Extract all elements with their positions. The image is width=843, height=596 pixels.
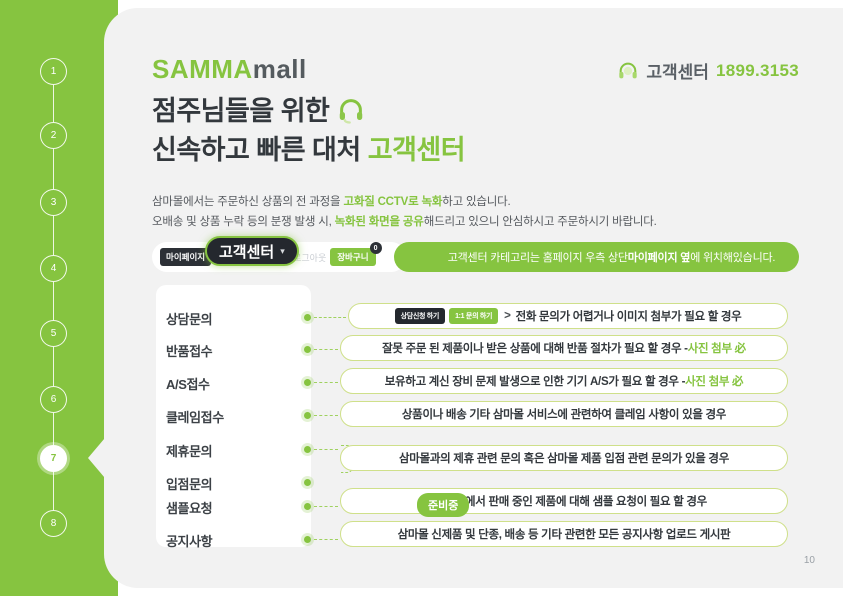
banner-text-a: 고객센터 카테고리는 홈페이지 우측 상단 [448,249,628,265]
hotline-label: 고객센터 [646,58,709,83]
dashed-connector [314,415,338,416]
title-line2-plain: 신속하고 빠른 대처 [152,135,361,165]
brand-logo: SAMMAmall [152,54,307,85]
bubble-text: 삼마몰 신제품 및 단종, 배송 등 기타 관련한 모든 공지사항 업로드 게시… [398,526,731,542]
connector-dot [304,379,311,386]
step-indicator-8[interactable]: 8 [40,510,67,537]
dashed-connector [314,449,338,450]
title-line2-accent: 고객센터 [368,135,465,165]
category-label: 클레임접수 [166,407,298,426]
connector-dot [304,446,311,453]
desc-1-highlight: 고화질 CCTV로 녹화 [343,196,442,208]
category-label: 입점문의 [166,474,298,493]
content-panel: SAMMAmall 고객센터 1899.3153 점주님들을 위한 [104,8,843,588]
dashed-connector [314,506,338,507]
location-banner: 고객센터 카테고리는 홈페이지 우측 상단 마이페이지 옆에 위치해있습니다. [394,242,799,272]
dashed-connector [314,349,338,350]
step-indicator-3[interactable]: 3 [40,189,67,216]
one-to-one-inquiry-pill[interactable]: 1:1 문의 하기 [449,308,498,324]
bubble-text: 삼마몰과의 제휴 관련 문의 혹은 삼마몰 제품 입점 관련 문의가 있을 경우 [399,450,729,466]
hotline: 고객센터 1899.3153 [617,58,799,83]
active-step-pointer [88,432,110,484]
bubble-text: 전화 문의가 어렵거나 이미지 첨부가 필요 할 경우 [516,308,742,324]
connector-dot [304,346,311,353]
category-label: A/S접수 [166,374,298,393]
chevron-down-icon: ▾ [280,246,285,257]
category-description-bubble[interactable]: 삼마몰 내에서 판매 중인 제품에 대해 샘플 요청이 필요 할 경우 [340,488,788,514]
desc-1a: 삼마몰에서는 주문하신 상품의 전 과정을 [152,196,343,208]
connector-dot [304,503,311,510]
tab-customer-center[interactable]: 고객센터 ▾ [205,236,299,266]
connector-dot [304,314,311,321]
banner-text-bold: 마이페이지 옆 [628,249,690,265]
consult-request-pill[interactable]: 상담신청 하기 [395,308,446,324]
description-line-1: 삼마몰에서는 주문하신 상품의 전 과정을 고화질 CCTV로 녹화하고 있습니… [152,192,657,212]
category-label: 공지사항 [166,531,298,550]
tab-customer-center-label: 고객센터 [219,241,274,262]
slide-page: 12345678 SAMMAmall 고객센터 1899.3153 점주님들을 … [0,0,843,596]
category-description-bubble[interactable]: 삼마몰 신제품 및 단종, 배송 등 기타 관련한 모든 공지사항 업로드 게시… [340,521,788,547]
banner-text-b: 에 위치해있습니다. [690,249,775,265]
headset-icon [617,60,639,82]
category-label: 상담문의 [166,309,298,328]
brand-secondary: mall [253,54,307,84]
category-description-bubble[interactable]: 상품이나 배송 기타 삼마몰 서비스에 관련하여 클레임 사항이 있을 경우 [340,401,788,427]
step-indicator-5[interactable]: 5 [40,320,67,347]
step-indicator-6[interactable]: 6 [40,386,67,413]
bubble-accent-text: 사진 첨부 必 [688,340,746,356]
category-label: 제휴문의 [166,441,298,460]
category-label: 샘플요청 [166,498,298,517]
title-line1: 점주님들을 위한 [152,96,329,126]
desc-2b: 해드리고 있으니 안심하시고 주문하시기 바랍니다. [424,216,657,228]
tab-mypage[interactable]: 마이페이지 [160,248,211,266]
hotline-number: 1899.3153 [716,61,799,81]
bubble-text: 상품이나 배송 기타 삼마몰 서비스에 관련하여 클레임 사항이 있을 경우 [402,406,726,422]
category-description-bubble[interactable]: 상담신청 하기1:1 문의 하기>전화 문의가 어렵거나 이미지 첨부가 필요 … [348,303,788,329]
tab-cart-label: 장바구니 [337,252,368,262]
arrow-separator: > [504,310,510,322]
category-description-bubble[interactable]: 삼마몰과의 제휴 관련 문의 혹은 삼마몰 제품 입점 관련 문의가 있을 경우 [340,445,788,471]
connector-dot [304,479,311,486]
desc-1b: 하고 있습니다. [442,196,510,208]
step-indicator-2[interactable]: 2 [40,122,67,149]
dashed-connector [314,539,338,540]
category-row-list: 상담문의반품접수A/S접수클레임접수제휴문의입점문의샘플요청공지사항상담신청 하… [104,285,843,547]
step-rail: 12345678 [0,0,118,596]
page-number: 10 [804,555,815,566]
dashed-connector [314,317,346,318]
bubble-text: 보유하고 계신 장비 문제 발생으로 인한 기기 A/S가 필요 할 경우 - [385,373,685,389]
cart-count-badge: 0 [370,242,382,254]
bubble-accent-text: 사진 첨부 必 [685,373,743,389]
step-indicator-1[interactable]: 1 [40,58,67,85]
dashed-connector [314,382,338,383]
step-indicator-7[interactable]: 7 [40,445,67,472]
page-title: 점주님들을 위한 신속하고 빠른 대처 고객센터 [152,92,465,171]
desc-2-highlight: 녹화된 화면을 공유 [335,216,424,228]
category-description-bubble[interactable]: 잘못 주문 된 제품이나 받은 상품에 대해 반품 절차가 필요 할 경우 - … [340,335,788,361]
status-badge: 준비중 [417,493,469,517]
connector-dot [304,536,311,543]
headset-icon [336,95,366,125]
description-line-2: 오배송 및 상품 누락 등의 분쟁 발생 시, 녹화된 화면을 공유해드리고 있… [152,212,657,232]
bubble-text: 잘못 주문 된 제품이나 받은 상품에 대해 반품 절차가 필요 할 경우 - [382,340,688,356]
description-text: 삼마몰에서는 주문하신 상품의 전 과정을 고화질 CCTV로 녹화하고 있습니… [152,192,657,232]
step-indicator-4[interactable]: 4 [40,255,67,282]
category-description-bubble[interactable]: 보유하고 계신 장비 문제 발생으로 인한 기기 A/S가 필요 할 경우 - … [340,368,788,394]
connector-dot [304,412,311,419]
brand-primary: SAMMA [152,54,253,84]
category-label: 반품접수 [166,341,298,360]
tab-cart[interactable]: 장바구니 0 [330,248,375,266]
desc-2a: 오배송 및 상품 누락 등의 분쟁 발생 시, [152,216,335,228]
